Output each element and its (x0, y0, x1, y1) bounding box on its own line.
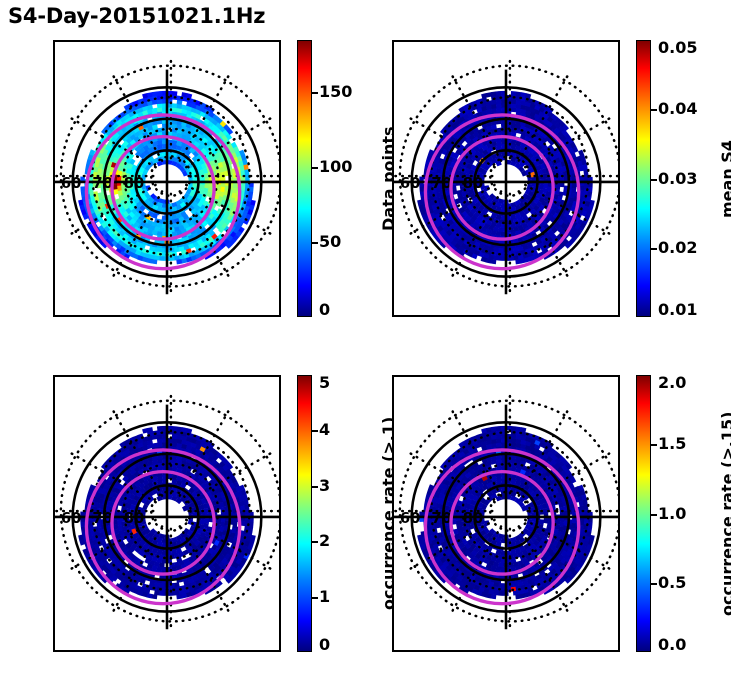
occurrence-rate-gt-point15-colorbar-tick-label: 0.5 (658, 575, 686, 591)
occurrence-rate-gt-point1-colorbar-tick-label: 1 (319, 589, 330, 605)
occurrence-rate-gt-point15-colorbar-tick-label: 2.0 (658, 375, 686, 391)
mean-s4-polar-plot-canvas: 607080 (394, 42, 618, 315)
occurrence-rate-gt-point1-colorbar-tick-label: 2 (319, 533, 330, 549)
mean-s4-colorbar-tick-label: 0.02 (658, 240, 697, 256)
figure-title: S4-Day-20151021.1Hz (8, 4, 265, 28)
data-points-colorbar-tick (312, 167, 318, 169)
mean-s4-colorbar-tick-label: 0.03 (658, 171, 697, 187)
latitude-label: 80 (463, 175, 483, 192)
occurrence-rate-gt-point15-colorbar-tick (651, 444, 657, 446)
data-points-polar-plot[interactable]: 607080 (53, 40, 281, 317)
latitude-label: 60 (61, 175, 81, 192)
occurrence-rate-gt-point1-colorbar-tick-label: 3 (319, 478, 330, 494)
occurrence-rate-gt-point1-colorbar-tick-label: 0 (319, 637, 330, 653)
occurrence-rate-gt-point1-colorbar-tick (312, 541, 318, 543)
occurrence-rate-gt-point15-colorbar-tick-label: 1.5 (658, 436, 686, 452)
mean-s4-colorbar[interactable]: 0.010.020.030.040.05mean S4 (636, 40, 652, 317)
occurrence-rate-gt-point15-polar-plot-canvas: 607080 (394, 377, 618, 650)
data-points-colorbar-tick-label: 0 (319, 302, 330, 318)
latitude-label: 60 (400, 510, 420, 527)
data-points-polar-plot-canvas: 607080 (55, 42, 279, 315)
occurrence-rate-gt-point15-colorbar-tick (651, 583, 657, 585)
mean-s4-colorbar-tick (651, 109, 657, 111)
latitude-label: 70 (92, 175, 112, 192)
latitude-label: 70 (431, 510, 451, 527)
mean-s4-polar-plot[interactable]: 607080 (392, 40, 620, 317)
data-points-colorbar-gradient (297, 40, 312, 317)
latitude-label: 80 (124, 175, 144, 192)
occurrence-rate-gt-point15-colorbar-tick (651, 514, 657, 516)
data-points-colorbar-tick-label: 150 (319, 84, 352, 100)
mean-s4-colorbar-tick-label: 0.05 (658, 40, 697, 56)
occurrence-rate-gt-point1-colorbar-tick (312, 430, 318, 432)
occurrence-rate-gt-point15-colorbar-axis-label: occurrence rate (>.15) (718, 411, 731, 615)
data-points-colorbar-tick (312, 242, 318, 244)
occurrence-rate-gt-point15-colorbar-tick-label: 0.0 (658, 637, 686, 653)
occurrence-rate-gt-point1-polar-plot-canvas: 607080 (55, 377, 279, 650)
occurrence-rate-gt-point15-colorbar-tick-label: 1.0 (658, 506, 686, 522)
occurrence-rate-gt-point1-colorbar-tick-label: 5 (319, 375, 330, 391)
latitude-label: 70 (92, 510, 112, 527)
latitude-label: 80 (124, 510, 144, 527)
data-points-colorbar-tick (312, 92, 318, 94)
mean-s4-colorbar-tick-label: 0.01 (658, 302, 697, 318)
mean-s4-colorbar-gradient (636, 40, 651, 317)
occurrence-rate-gt-point1-colorbar-tick (312, 597, 318, 599)
occurrence-rate-gt-point1-colorbar-tick (312, 486, 318, 488)
mean-s4-colorbar-tick-label: 0.04 (658, 101, 697, 117)
occurrence-rate-gt-point15-colorbar[interactable]: 0.00.51.01.52.0occurrence rate (>.15) (636, 375, 652, 652)
latitude-label: 60 (61, 510, 81, 527)
occurrence-rate-gt-point1-colorbar-tick-label: 4 (319, 422, 330, 438)
occurrence-rate-gt-point1-polar-plot[interactable]: 607080 (53, 375, 281, 652)
occurrence-rate-gt-point1-colorbar-gradient (297, 375, 312, 652)
occurrence-rate-gt-point1-colorbar[interactable]: 012345occurrence rate (>.1) (297, 375, 313, 652)
data-points-colorbar-tick-label: 100 (319, 159, 352, 175)
occurrence-rate-gt-point15-colorbar-gradient (636, 375, 651, 652)
data-points-colorbar[interactable]: 050100150Data points (297, 40, 313, 317)
occurrence-rate-gt-point15-polar-plot[interactable]: 607080 (392, 375, 620, 652)
mean-s4-colorbar-tick (651, 248, 657, 250)
latitude-label: 60 (400, 175, 420, 192)
data-points-colorbar-tick-label: 50 (319, 234, 341, 250)
mean-s4-colorbar-tick (651, 179, 657, 181)
latitude-label: 70 (431, 175, 451, 192)
latitude-label: 80 (463, 510, 483, 527)
mean-s4-colorbar-axis-label: mean S4 (718, 140, 731, 218)
